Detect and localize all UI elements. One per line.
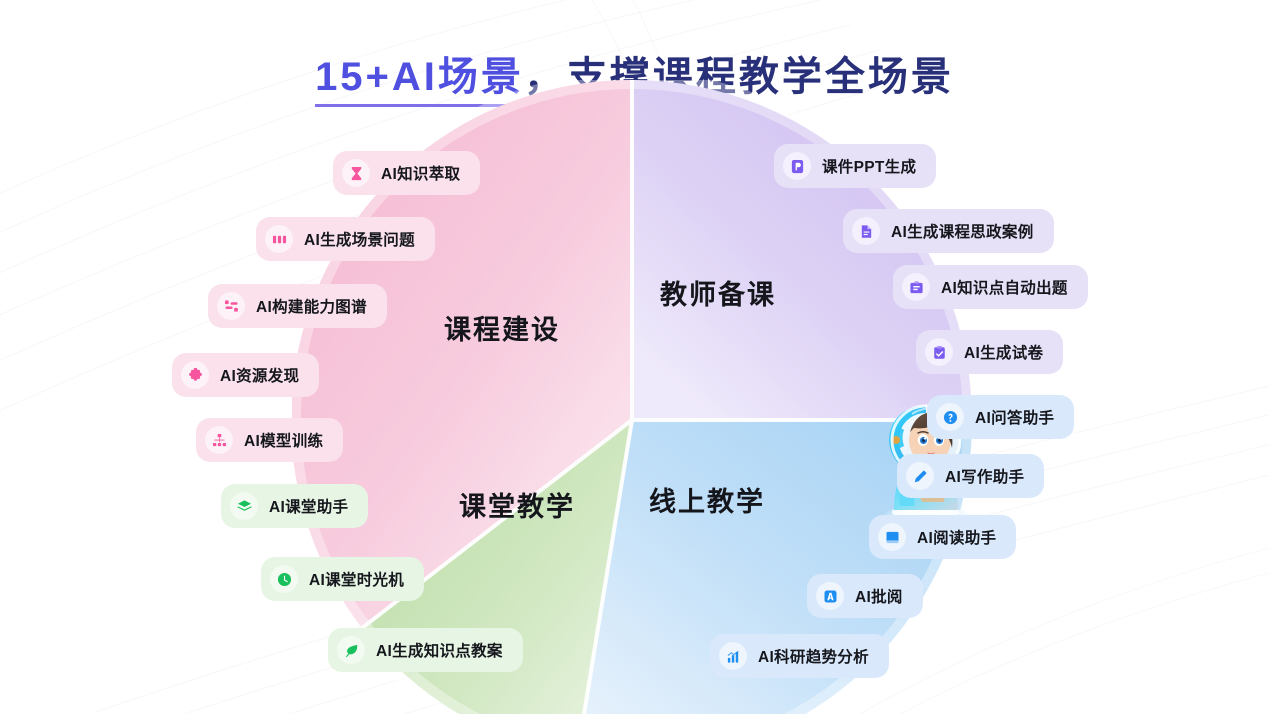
pill-ai-exam-paper-generation[interactable]: AI生成试卷 [916, 330, 1063, 374]
columns-icon [265, 225, 293, 253]
pill-label: AI生成课程思政案例 [891, 220, 1034, 242]
pill-ai-classroom-time-machine[interactable]: AI课堂时光机 [261, 557, 424, 601]
pill-label: 课件PPT生成 [822, 155, 916, 177]
bar-chart-icon [719, 642, 747, 670]
puzzle-icon [181, 361, 209, 389]
pill-ai-auto-question-generation[interactable]: AI知识点自动出题 [893, 265, 1088, 309]
grade-icon [816, 582, 844, 610]
infographic-canvas: 15+AI场景，支撑课程教学全场景 [0, 0, 1269, 714]
pill-ai-ideological-case-generation[interactable]: AI生成课程思政案例 [843, 209, 1054, 253]
pill-label: AI写作助手 [945, 465, 1024, 487]
pill-ai-lesson-plan-generation[interactable]: AI生成知识点教案 [328, 628, 523, 672]
question-bank-icon [902, 273, 930, 301]
book-icon [878, 523, 906, 551]
pill-ai-classroom-assistant[interactable]: AI课堂助手 [221, 484, 368, 528]
pill-ai-qa-assistant[interactable]: AI问答助手 [927, 395, 1074, 439]
pill-ai-scenario-question-generation[interactable]: AI生成场景问题 [256, 217, 435, 261]
wedge-label-classroom-teaching: 课堂教学 [459, 485, 575, 524]
question-circle-icon [936, 403, 964, 431]
pill-label: AI科研趋势分析 [758, 645, 869, 667]
pill-ai-competency-graph-building[interactable]: AI构建能力图谱 [208, 284, 387, 328]
clipboard-check-icon [925, 338, 953, 366]
pill-ai-research-trend-analysis[interactable]: AI科研趋势分析 [710, 634, 889, 678]
document-icon [852, 217, 880, 245]
pill-label: AI生成场景问题 [304, 228, 415, 250]
pencil-icon [906, 462, 934, 490]
pill-ai-grading[interactable]: AI批阅 [807, 574, 923, 618]
hourglass-icon [342, 159, 370, 187]
pill-label: AI课堂助手 [269, 495, 348, 517]
pill-label: AI知识萃取 [381, 162, 460, 184]
hierarchy-icon [205, 426, 233, 454]
pill-label: AI问答助手 [975, 406, 1054, 428]
wedge-label-course-construction: 课程建设 [444, 308, 560, 347]
pill-label: AI批阅 [855, 585, 903, 607]
pill-label: AI生成知识点教案 [376, 639, 503, 661]
pill-ai-model-training[interactable]: AI模型训练 [196, 418, 343, 462]
pill-ai-writing-assistant[interactable]: AI写作助手 [897, 454, 1044, 498]
layers-icon [230, 492, 258, 520]
pill-label: AI阅读助手 [917, 526, 996, 548]
pill-label: AI构建能力图谱 [256, 295, 367, 317]
pill-ai-resource-discovery[interactable]: AI资源发现 [172, 353, 319, 397]
pill-label: AI课堂时光机 [309, 568, 404, 590]
graph-nodes-icon [217, 292, 245, 320]
clock-icon [270, 565, 298, 593]
pill-label: AI生成试卷 [964, 341, 1043, 363]
pill-ai-knowledge-extraction[interactable]: AI知识萃取 [333, 151, 480, 195]
pill-courseware-ppt-generation[interactable]: 课件PPT生成 [774, 144, 936, 188]
pill-label: AI模型训练 [244, 429, 323, 451]
pill-ai-reading-assistant[interactable]: AI阅读助手 [869, 515, 1016, 559]
wedge-label-teacher-preparation: 教师备课 [660, 273, 776, 312]
ppt-icon [783, 152, 811, 180]
pill-label: AI知识点自动出题 [941, 276, 1068, 298]
leaf-pen-icon [337, 636, 365, 664]
pill-label: AI资源发现 [220, 364, 299, 386]
wedge-label-online-teaching: 线上教学 [649, 480, 765, 519]
